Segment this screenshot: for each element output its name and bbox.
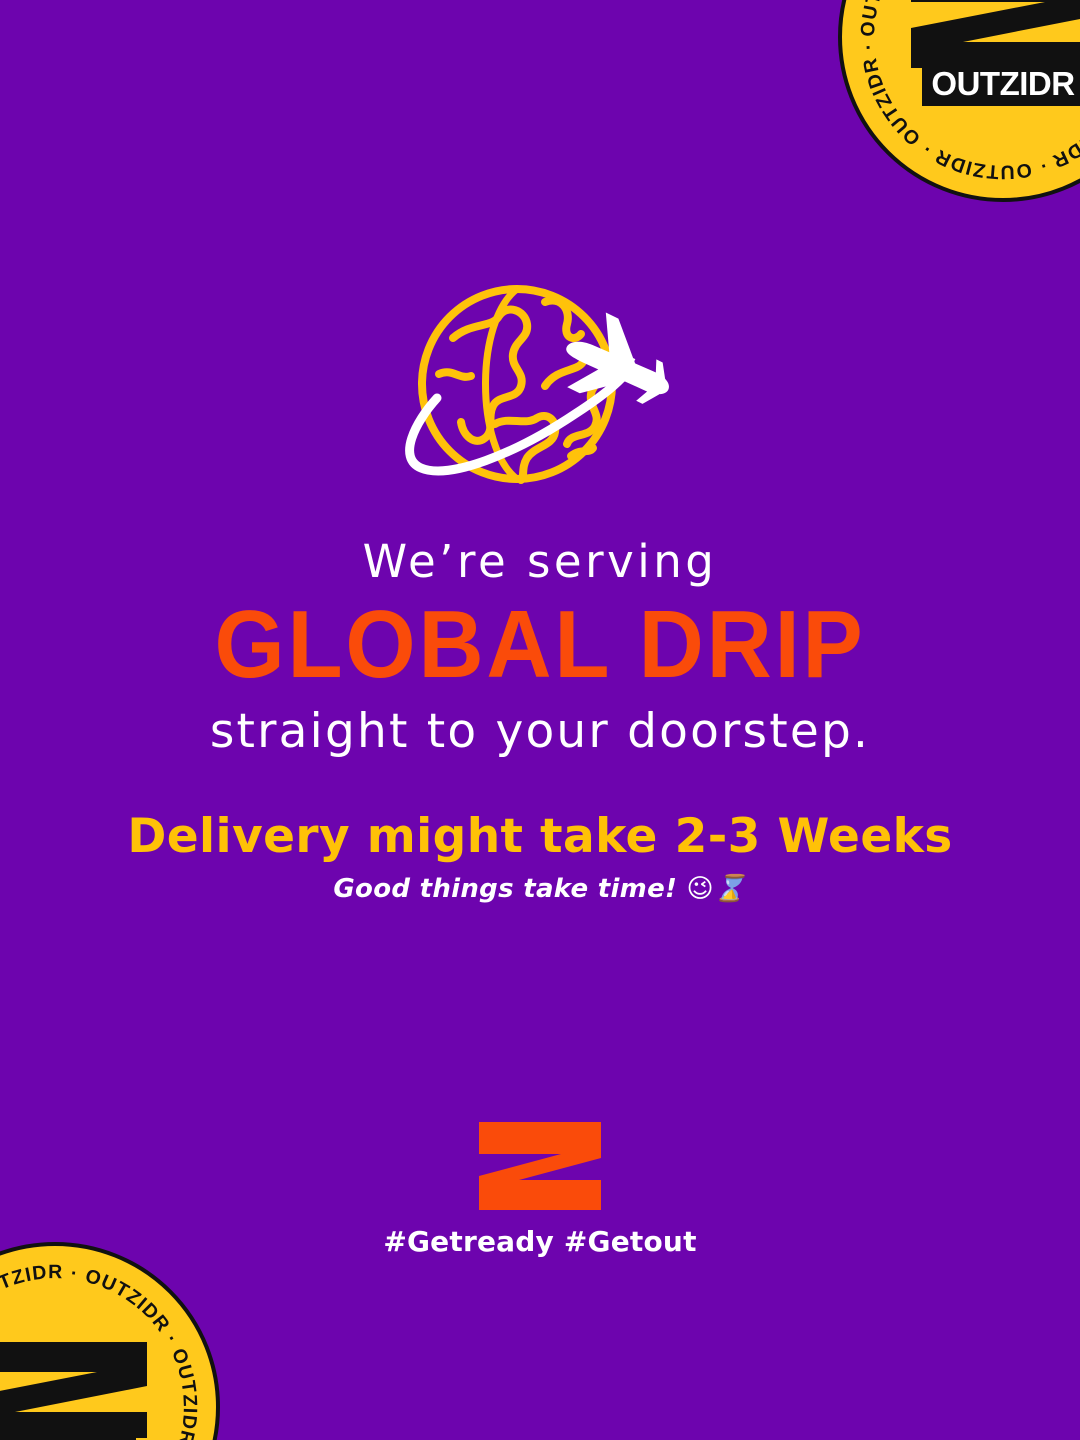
headline-line-1: We’re serving bbox=[0, 538, 1080, 585]
headline-block: We’re serving GLOBAL DRIP straight to yo… bbox=[0, 538, 1080, 757]
delivery-note: Good things take time! 😉⌛ bbox=[0, 874, 1080, 904]
badge-wordmark: OUTZIDR bbox=[0, 1435, 127, 1440]
globe-airplane-icon bbox=[375, 276, 705, 496]
poster-content: We’re serving GLOBAL DRIP straight to yo… bbox=[0, 0, 1080, 904]
outzidr-seal-bottom-left: OUTZIDR · OUTZIDR · OUTZIDR · OUTZIDR · … bbox=[0, 1242, 220, 1440]
footer-hashtags: #Getready #Getout bbox=[0, 1225, 1080, 1258]
outzidr-z-logo bbox=[479, 1122, 601, 1210]
z-mark-icon bbox=[0, 1338, 153, 1440]
delivery-block: Delivery might take 2-3 Weeks Good thing… bbox=[0, 811, 1080, 905]
badge-wordmark-bar: OUTZIDR bbox=[0, 1432, 136, 1440]
headline-line-2: GLOBAL DRIP bbox=[32, 597, 1047, 693]
hero-graphic bbox=[0, 272, 1080, 500]
poster-canvas: OUTZIDR · OUTZIDR · OUTZIDR · OUTZIDR · … bbox=[0, 0, 1080, 1440]
badge-core-bottom-left: OUTZIDR bbox=[0, 1338, 153, 1440]
delivery-estimate: Delivery might take 2-3 Weeks bbox=[0, 811, 1080, 863]
headline-line-3: straight to your doorstep. bbox=[0, 707, 1080, 756]
footer-block: #Getready #Getout bbox=[0, 1122, 1080, 1258]
